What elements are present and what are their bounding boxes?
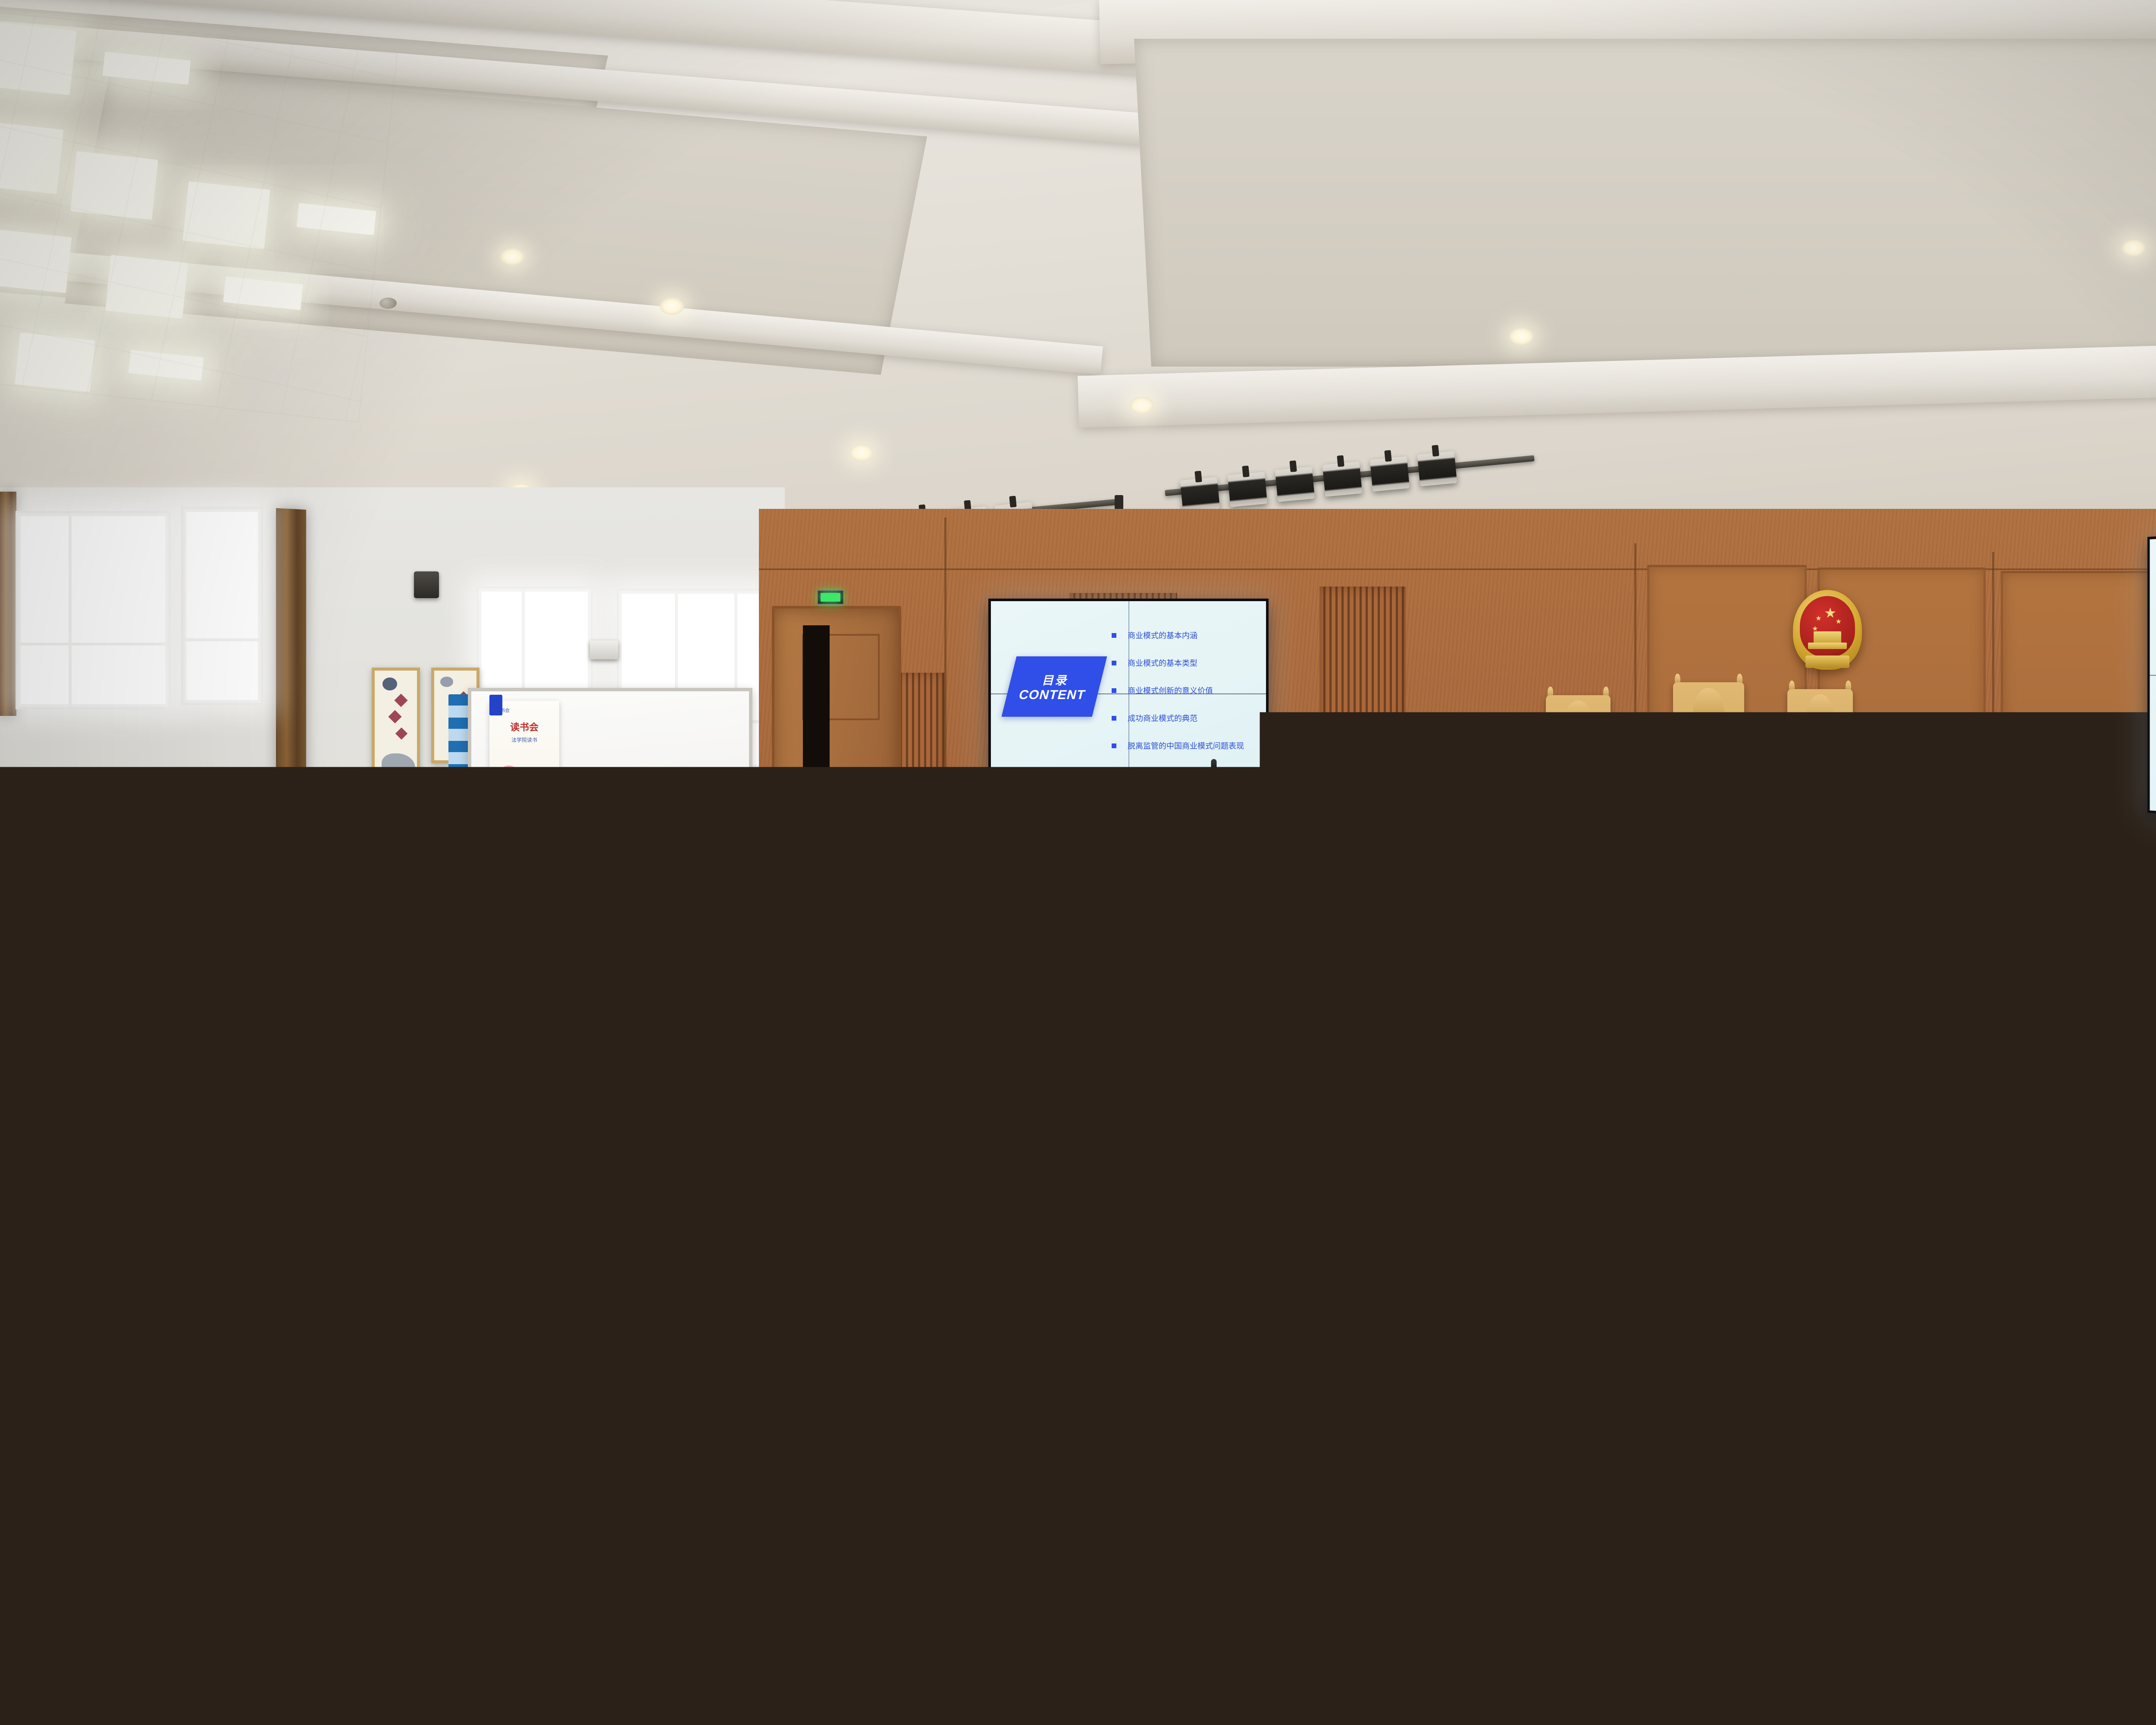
- toc-list: 商业模式的基本内涵 商业模式的基本类型 商业模式创新的意义价值 成功商业模式的典…: [1112, 630, 1266, 779]
- monitor-stand: [1353, 829, 1378, 838]
- student-clothing: [142, 831, 192, 875]
- student-tablet[interactable]: [1451, 1157, 1564, 1246]
- student-clothing: [319, 965, 379, 1016]
- toc-item-label: 商业模式的基本内涵: [1128, 630, 1197, 641]
- tablet-screen: [1454, 1160, 1560, 1242]
- laptop-lid: [943, 1016, 1071, 1102]
- student: [254, 897, 315, 996]
- toc-item: 商业模式的基本类型: [1112, 657, 1266, 668]
- exit-sign-glow: [821, 593, 840, 602]
- toc-item: 脱离监管的中国商业模式问题表现: [1112, 740, 1266, 751]
- radiator: [181, 772, 310, 824]
- artwork-ink-diamond: [388, 710, 401, 723]
- chair-seat: [1827, 983, 1884, 1005]
- chair-leather-pad: [1802, 724, 1838, 815]
- bottle-cap: [1623, 879, 1633, 886]
- laptop-screen: [436, 957, 542, 1029]
- laptop-screen-panel: [1286, 1511, 1398, 1711]
- laptop-screen: [722, 933, 824, 999]
- emblem-tiananmen-base: [1808, 643, 1847, 649]
- projection-screen-surface: 目录 CONTENT 商业模式的基本内涵 商业模式的基本类型 商业模式创新的意义…: [991, 601, 1266, 786]
- track-spotlight[interactable]: [1370, 456, 1410, 492]
- ceiling-coffer-right: [1134, 39, 2156, 367]
- laptop-lid: [434, 955, 545, 1032]
- bottle-water-level: [2064, 1240, 2092, 1306]
- loose-papers: [437, 1292, 555, 1364]
- window-mullion: [183, 638, 261, 641]
- laptop-screen: [1170, 993, 1288, 1071]
- camera-head: [844, 811, 855, 831]
- tablet-screen: [103, 1002, 208, 1085]
- curtain-left: [276, 508, 306, 812]
- poster-qr-code: [495, 860, 518, 883]
- laptop-lid: [1370, 1030, 1492, 1112]
- laptop-screen: [900, 1450, 1419, 1725]
- downlight: [849, 444, 874, 461]
- toc-item-label: 加强商业模式法律监管的必要性与现实性: [1128, 768, 1266, 779]
- laptop-screen-toolbar: [921, 1484, 1013, 1503]
- artwork-ink-blob: [440, 677, 453, 687]
- microphone-head: [1211, 759, 1217, 770]
- whiteboard-clip: [489, 695, 502, 715]
- laptop-screen: [257, 1023, 398, 1116]
- microphone-stem: [1213, 769, 1215, 792]
- box-stripe: [78, 1534, 172, 1549]
- toc-item-label: 商业模式的基本类型: [1128, 657, 1197, 668]
- national-emblem: [1793, 590, 1862, 670]
- downlight: [1509, 328, 1533, 345]
- toc-bullet-icon: [1112, 633, 1116, 638]
- student-clothing: [71, 851, 123, 896]
- student: [71, 806, 123, 893]
- toc-bullet-icon: [1112, 716, 1116, 721]
- poster-subtitle: 法学院读书: [489, 736, 559, 743]
- student-hair: [536, 929, 583, 989]
- student-laptop[interactable]: [1370, 1030, 1492, 1112]
- toc-item-label: 商业模式创新的意义价值: [1128, 685, 1213, 696]
- mug-lid: [1206, 1151, 1251, 1164]
- toc-item-label: 脱离监管的中国商业模式问题表现: [1128, 740, 1244, 751]
- student-hair: [1106, 992, 1158, 1060]
- hair-tie: [1421, 1145, 1457, 1158]
- hair-clip: [843, 1074, 873, 1108]
- laptop-lid: [1543, 1051, 1665, 1133]
- student-laptop[interactable]: [1168, 990, 1291, 1073]
- laptop-screen: [946, 1018, 1068, 1099]
- lecturer-microphone: [1457, 780, 1478, 831]
- reading-club-poster: 读书会 读书会 法学院读书: [489, 701, 559, 903]
- toc-bullet-icon: [1112, 688, 1116, 693]
- student: [142, 789, 192, 871]
- track-spotlight[interactable]: [1417, 451, 1457, 486]
- bottle-cap: [1578, 793, 1587, 800]
- lectern-top: [1173, 790, 1272, 838]
- lectern-microphone: [1207, 759, 1220, 792]
- student: [26, 979, 91, 1087]
- laptop-lid: [254, 1021, 401, 1119]
- bottle-cap: [1483, 892, 1492, 899]
- counsel-chair: [727, 800, 780, 908]
- student-hair: [394, 923, 441, 982]
- bottle-cap: [1503, 893, 1513, 900]
- student-foreground: [561, 1130, 742, 1466]
- toc-bullet-icon: [1112, 771, 1116, 776]
- artwork-ink-wash: [382, 753, 415, 780]
- wood-wall-seam: [1992, 552, 1994, 940]
- laptop-screen: [1546, 1054, 1663, 1131]
- wood-wall-panel: [2001, 571, 2152, 938]
- small-thermos: [190, 1121, 217, 1199]
- toc-item: 商业模式的基本内涵: [1112, 630, 1266, 641]
- student-tablet[interactable]: [99, 998, 212, 1089]
- judge-chair-center: [1673, 682, 1744, 825]
- microphone-head: [1464, 780, 1471, 794]
- student-laptop[interactable]: [943, 1016, 1071, 1102]
- content-badge: 目录 CONTENT: [1002, 656, 1107, 717]
- student-laptop[interactable]: [898, 1447, 1422, 1725]
- student-laptop[interactable]: [720, 931, 827, 1001]
- ceiling-speaker: [379, 298, 397, 309]
- tablet-screen: [621, 1095, 719, 1171]
- steel-thermos: [196, 1005, 233, 1130]
- black-backpack: [1708, 966, 1802, 1061]
- closed-laptop: [1599, 805, 1678, 828]
- window-mullion: [69, 513, 72, 707]
- emergency-light: [590, 640, 618, 659]
- side-chair: [1823, 871, 1888, 1052]
- laptop-screen-sidebar: [924, 1531, 1056, 1725]
- student-coat-mauve: [2061, 1289, 2156, 1471]
- dais-step: [1975, 992, 2156, 1013]
- toc-item: 成功商业模式的典范: [1112, 712, 1266, 724]
- judge-chair: [1787, 689, 1853, 824]
- chair-leather-pad: [1689, 719, 1728, 816]
- laptop-lid: [720, 931, 827, 1001]
- toc-bullet-icon: [1112, 743, 1116, 748]
- lectern-base: [1175, 935, 1270, 950]
- dais-step: [1958, 972, 2156, 993]
- laptop-screen-highlight: [1142, 1626, 1274, 1658]
- emblem-ribbon: [1805, 655, 1849, 668]
- thermos-cap: [196, 1005, 233, 1030]
- water-bottle: [285, 1143, 304, 1199]
- ceiling-tile-grid: [0, 9, 398, 423]
- microphone-base: [978, 862, 993, 867]
- laptop-screen: [877, 937, 981, 1006]
- led-wall-surface: 目录 CONTENT 商业模式的基本内涵 商业模式的基本类型 商业模式创新的意义…: [2150, 523, 2156, 828]
- screen-tile-seam-horizontal: [2150, 675, 2156, 676]
- travel-mug: [1203, 1160, 1254, 1268]
- student-hair: [147, 789, 186, 837]
- student-clothing: [561, 866, 612, 913]
- lecturer-jacket: [1469, 797, 1551, 845]
- student-foreground-largest: [1509, 1328, 2018, 1725]
- student-hair: [325, 914, 372, 973]
- window: [16, 511, 171, 709]
- artwork-ink-diamond: [394, 693, 407, 707]
- student-laptop[interactable]: [254, 1021, 401, 1119]
- wall-speaker: [414, 571, 439, 598]
- track-spotlight[interactable]: [1228, 472, 1268, 507]
- laptop-screen: [1373, 1032, 1490, 1109]
- baseball-cap: [564, 839, 609, 870]
- track-spotlight[interactable]: [1180, 477, 1220, 512]
- toc-item-label: 成功商业模式的典范: [1128, 712, 1197, 724]
- chair-leg: [1832, 1005, 1836, 1052]
- student-clothing: [1621, 1151, 1705, 1227]
- keyboard[interactable]: [1337, 819, 1409, 830]
- downlight: [660, 298, 684, 315]
- poster-org-label: 读书会: [495, 707, 559, 714]
- student-hair: [213, 832, 256, 886]
- student-coat: [561, 1272, 742, 1475]
- downlight: [2122, 239, 2146, 257]
- downlight: [1130, 397, 1154, 414]
- bottle-cap: [286, 1136, 302, 1145]
- glass-water-bottle: [2061, 1164, 2095, 1315]
- lecture-hall-scene: EPSON 读书会 读书会 法学: [0, 0, 2156, 1725]
- chair-leather-pad: [926, 818, 956, 891]
- student-hair: [1578, 1328, 1932, 1639]
- microphone-base: [1458, 825, 1477, 831]
- window: [181, 507, 263, 705]
- toc-item: 商业模式创新的意义价值: [1112, 685, 1266, 696]
- water-bottle: [1577, 798, 1588, 830]
- student-cap: [561, 839, 612, 912]
- emergency-exit-sign: [817, 590, 844, 605]
- student-hair: [34, 979, 82, 1044]
- student-clothing: [254, 948, 315, 999]
- poster-sun-graphic: [499, 765, 519, 785]
- student-tablet[interactable]: [618, 1091, 723, 1175]
- track-spotlight[interactable]: [1322, 461, 1363, 497]
- open-textbook: [214, 1186, 399, 1273]
- content-badge-cn: 目录: [1041, 671, 1071, 688]
- toc-item: 加强商业模式法律监管的必要性与现实性: [1112, 768, 1266, 779]
- student-laptop[interactable]: [874, 934, 984, 1009]
- lecturer-glasses-icon: [1491, 777, 1527, 784]
- student: [319, 914, 379, 1013]
- student-laptop[interactable]: [1543, 1051, 1665, 1133]
- chair-leather-pad: [739, 828, 769, 901]
- poster-mountain-graphic: [495, 785, 554, 827]
- content-badge-en: CONTENT: [1017, 688, 1087, 703]
- poster-title: 读书会: [489, 720, 559, 734]
- artwork-ink-blob: [382, 677, 397, 690]
- artwork-ink-diamond: [395, 728, 407, 740]
- student-coat: [52, 1630, 526, 1725]
- microphone-stem: [984, 838, 987, 859]
- laptop-lid: [874, 934, 984, 1009]
- witness-lectern: [1173, 790, 1272, 950]
- aisle-floor: [1865, 1041, 2156, 1167]
- wall-artwork: [372, 668, 420, 789]
- track-spotlight[interactable]: [1275, 467, 1315, 502]
- curtain-far-left: [0, 492, 16, 716]
- window-mullion: [18, 643, 169, 646]
- student-coat-white: [1509, 1596, 2018, 1725]
- downlight: [500, 248, 524, 265]
- counsel-chair: [914, 790, 968, 898]
- student-hair: [260, 897, 307, 956]
- laptop-lid: [1168, 990, 1291, 1073]
- counsel-microphone: [977, 830, 994, 867]
- thermos-cap: [191, 1115, 216, 1124]
- laptop-lid: [898, 1447, 1422, 1725]
- microphone-stem: [1467, 793, 1469, 824]
- toc-bullet-icon: [1112, 661, 1116, 665]
- lectern-body: [1187, 835, 1258, 937]
- student-clothing: [884, 1131, 966, 1203]
- student-laptop[interactable]: [434, 955, 545, 1032]
- side-led-wall: 目录 CONTENT 商业模式的基本内涵 商业模式的基本类型 商业模式创新的意义…: [2147, 519, 2156, 830]
- student-hair: [76, 806, 117, 858]
- main-projection-screen: 目录 CONTENT 商业模式的基本内涵 商业模式的基本类型 商业模式创新的意义…: [988, 599, 1269, 788]
